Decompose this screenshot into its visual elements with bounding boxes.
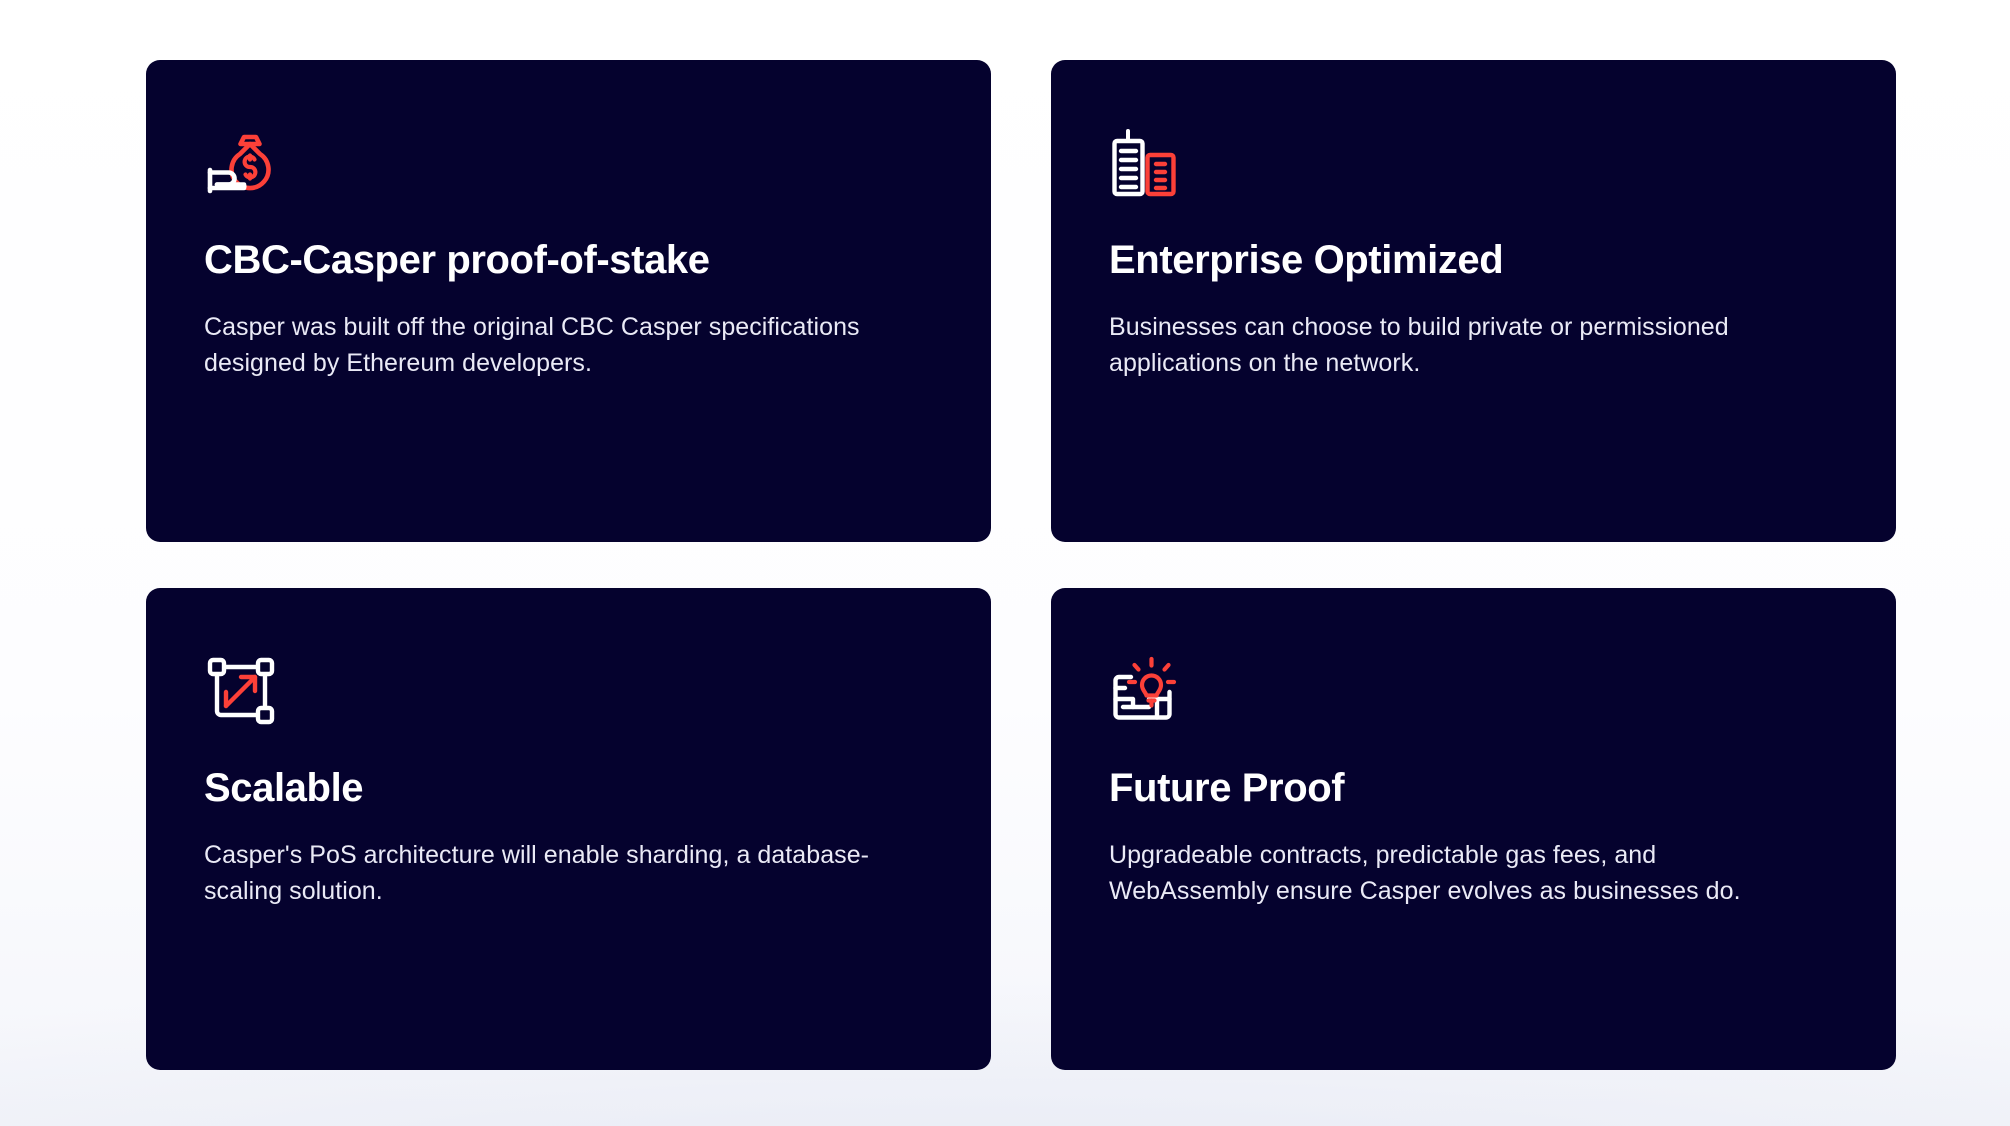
feature-card-body: Businesses can choose to build private o…	[1109, 309, 1809, 382]
feature-card-future-proof[interactable]: Future Proof Upgradeable contracts, pred…	[1051, 588, 1896, 1070]
office-buildings-icon	[1109, 126, 1183, 200]
blueprint-lightbulb-icon	[1109, 654, 1183, 728]
feature-cards-page: CBC-Casper proof-of-stake Casper was bui…	[0, 0, 2010, 1126]
feature-card-enterprise-optimized[interactable]: Enterprise Optimized Businesses can choo…	[1051, 60, 1896, 542]
feature-card-scalable[interactable]: Scalable Casper's PoS architecture will …	[146, 588, 991, 1070]
feature-card-body: Casper was built off the original CBC Ca…	[204, 309, 904, 382]
feature-card-cbc-casper[interactable]: CBC-Casper proof-of-stake Casper was bui…	[146, 60, 991, 542]
feature-card-title: Scalable	[204, 766, 933, 811]
feature-card-title: CBC-Casper proof-of-stake	[204, 238, 933, 283]
feature-card-grid: CBC-Casper proof-of-stake Casper was bui…	[146, 60, 1896, 1070]
feature-card-title: Enterprise Optimized	[1109, 238, 1838, 283]
feature-card-body: Upgradeable contracts, predictable gas f…	[1109, 837, 1809, 910]
money-bag-in-hand-icon	[204, 126, 278, 200]
feature-card-body: Casper's PoS architecture will enable sh…	[204, 837, 904, 910]
scale-resize-arrow-icon	[204, 654, 278, 728]
feature-card-title: Future Proof	[1109, 766, 1838, 811]
